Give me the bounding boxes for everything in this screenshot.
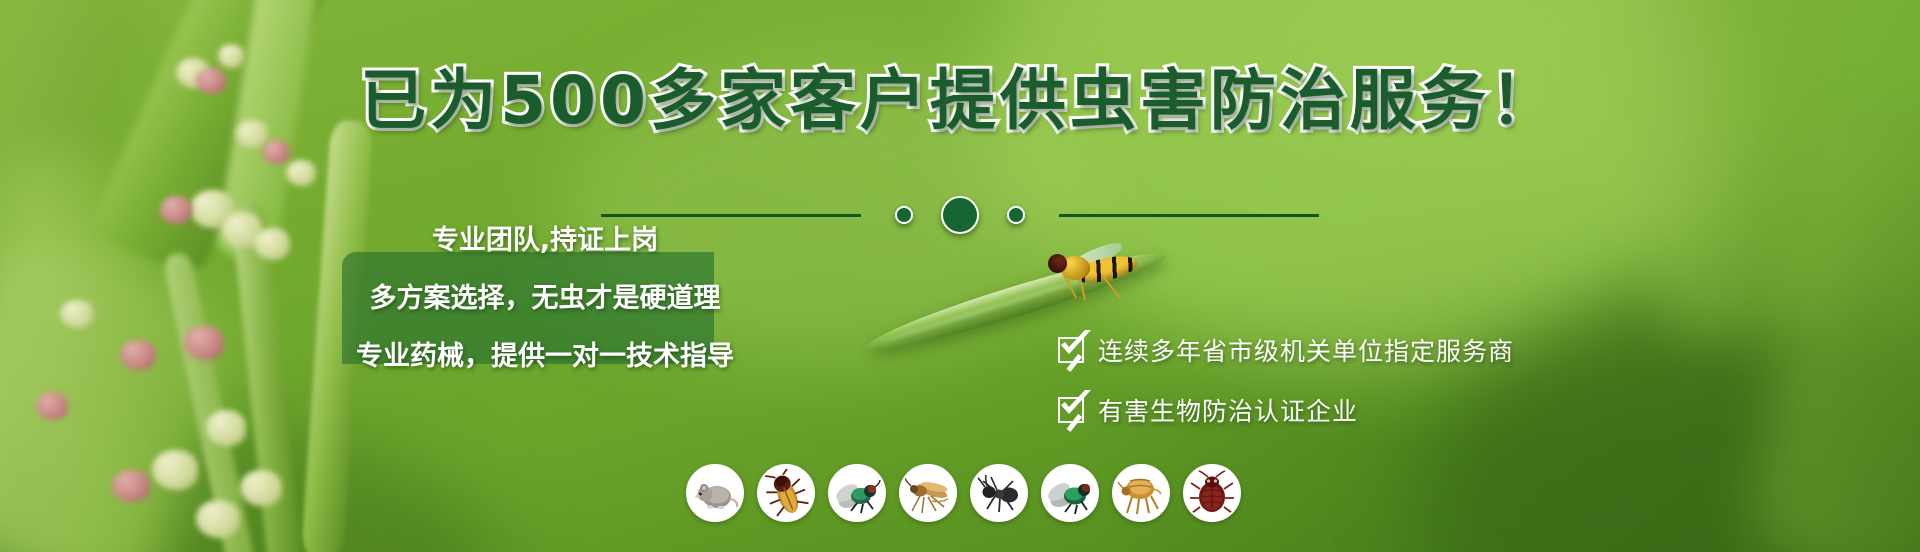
bg-bud-16 — [240, 470, 282, 506]
bedbug-icon[interactable] — [1183, 464, 1241, 522]
bg-bud-17 — [196, 500, 240, 538]
checkbox-checked-icon — [1058, 337, 1084, 363]
bg-bud-18 — [60, 300, 94, 328]
fly-green-icon[interactable] — [1041, 464, 1099, 522]
bg-bud-12 — [120, 340, 156, 370]
bg-bud-19 — [36, 392, 68, 420]
ant-icon[interactable] — [970, 464, 1028, 522]
mosquito-icon[interactable] — [899, 464, 957, 522]
decorative-divider — [0, 196, 1920, 234]
banner-headline: 已为500多家客户提供虫害防治服务！ — [0, 68, 1920, 134]
fly-icon[interactable] — [828, 464, 886, 522]
divider-dot-small-left — [895, 206, 913, 224]
bg-bud-6 — [286, 160, 316, 186]
rodent-icon[interactable] — [686, 464, 744, 522]
hoverfly-illustration — [1046, 248, 1156, 296]
pest-icon-strip — [686, 464, 1241, 522]
hoverfly-head — [1048, 254, 1067, 273]
flea-icon[interactable] — [1112, 464, 1170, 522]
selling-point-line-1: 专业团队,持证上岗 — [432, 218, 658, 257]
checklist-label: 有害生物防治认证企业 — [1098, 392, 1358, 428]
credentials-checklist: 连续多年省市级机关单位指定服务商 有害生物防治认证企业 — [1058, 332, 1514, 428]
selling-points-text: 专业团队,持证上岗 多方案选择，无虫才是硬道理 专业药械，提供一对一技术指导 — [330, 196, 760, 373]
divider-line-right — [1059, 214, 1319, 217]
divider-dot-large-center — [941, 196, 979, 234]
bg-bud-13 — [206, 410, 246, 446]
checklist-label: 连续多年省市级机关单位指定服务商 — [1098, 332, 1514, 368]
selling-point-line-2: 多方案选择，无虫才是硬道理 — [370, 276, 721, 315]
checklist-row: 有害生物防治认证企业 — [1058, 392, 1514, 428]
bg-bud-11 — [184, 326, 224, 360]
bg-bud-3 — [218, 44, 244, 68]
pest-control-banner: 已为500多家客户提供虫害防治服务！ 专业团队,持证上岗 多方案选择，无虫才是硬… — [0, 0, 1920, 552]
checklist-row: 连续多年省市级机关单位指定服务商 — [1058, 332, 1514, 368]
bg-bud-14 — [152, 450, 198, 490]
cockroach-icon[interactable] — [757, 464, 815, 522]
divider-dots — [861, 196, 1059, 234]
bg-bud-15 — [112, 470, 150, 502]
divider-dot-small-right — [1007, 206, 1025, 224]
selling-point-line-3: 专业药械，提供一对一技术指导 — [356, 334, 734, 373]
bg-bud-5 — [262, 140, 290, 164]
checkbox-checked-icon — [1058, 397, 1084, 423]
